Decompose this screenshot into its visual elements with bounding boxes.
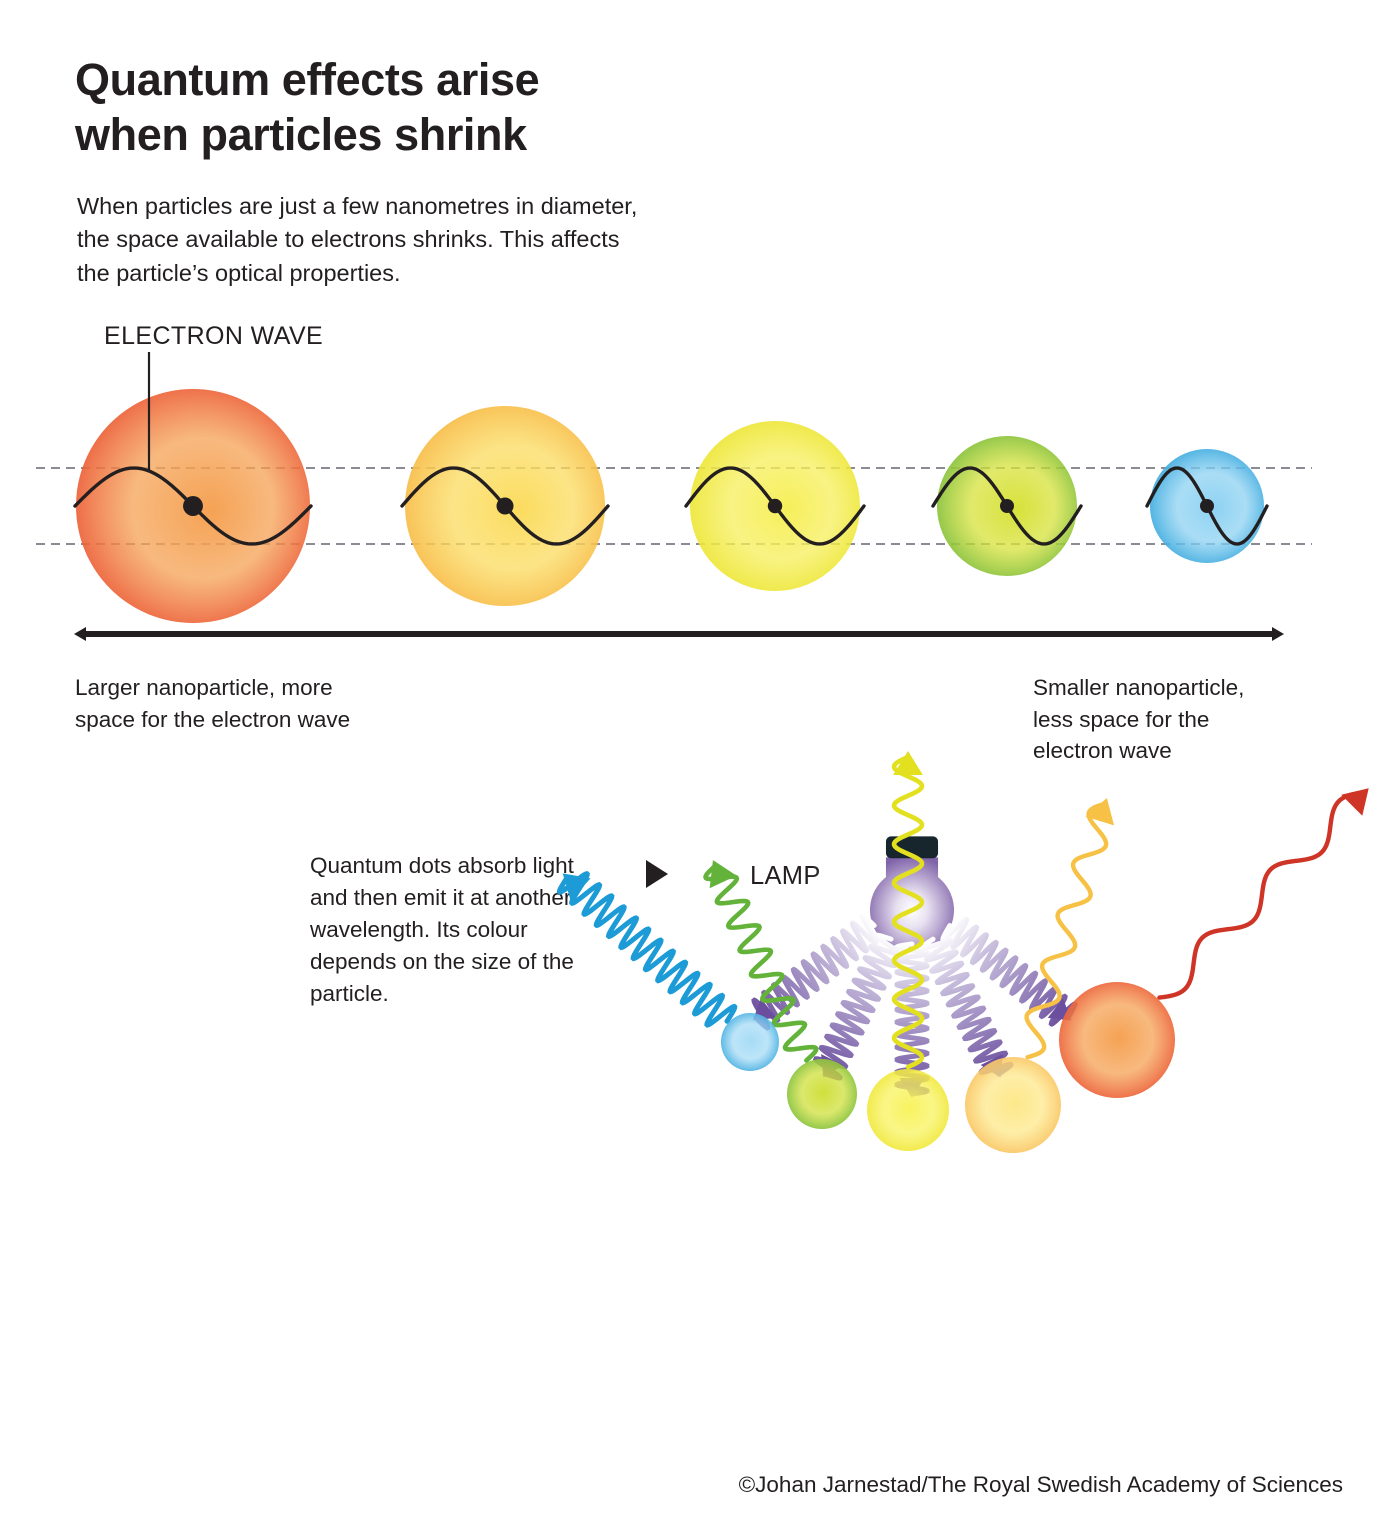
electron-dot [1200,499,1214,513]
electron-dot [183,496,203,516]
electron-dot [1000,499,1014,513]
electron-dot [768,499,782,513]
figure-canvas [0,0,1397,1536]
triangle-right-icon [646,860,668,888]
yellow-dot [867,1069,949,1151]
orange-dot [965,1057,1061,1153]
emission-wave [1159,793,1364,998]
green-dot [787,1059,857,1129]
blue-dot [721,1013,779,1071]
red-dot [1059,982,1175,1098]
infographic-root: Quantum effects arise when particles shr… [0,0,1397,1536]
electron-dot [497,498,514,515]
emission-arrowhead [1341,788,1368,815]
emission-wave [559,874,734,1025]
nanoparticle-row [75,389,1267,623]
